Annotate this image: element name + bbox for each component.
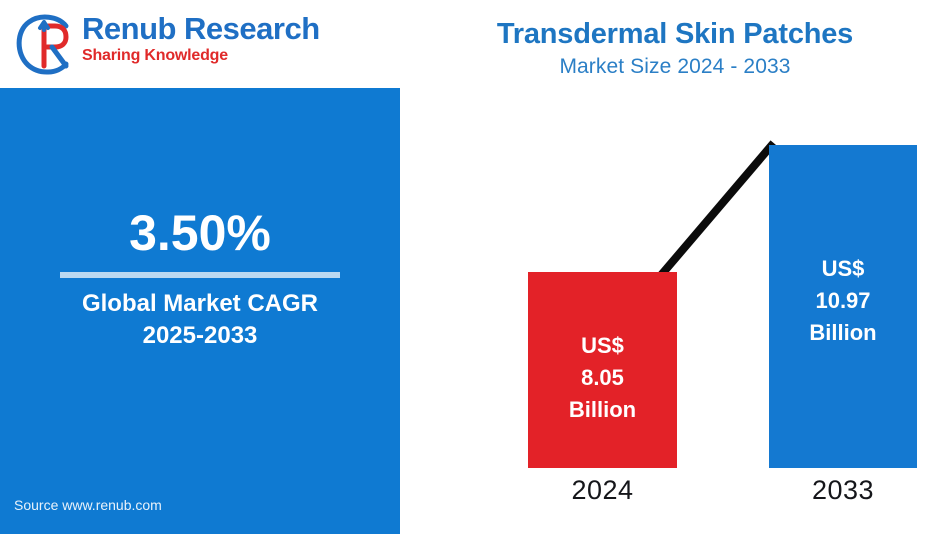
bar-2024-value-label: US$ 8.05 Billion — [528, 330, 677, 426]
page-title: Transdermal Skin Patches — [410, 16, 940, 53]
page-subtitle: Market Size 2024 - 2033 — [410, 53, 940, 81]
brand-logo-text: Renub Research Sharing Knowledge — [82, 12, 332, 65]
x-tick-2024: 2024 — [528, 473, 677, 507]
bar-2033-value-label: US$ 10.97 Billion — [769, 253, 917, 349]
circular-arrow-r-logo-icon — [14, 14, 80, 78]
brand-tagline: Sharing Knowledge — [82, 46, 332, 65]
bar-chart: US$ 8.05 Billion US$ 10.97 Billion 2024 … — [400, 88, 950, 534]
cagr-divider — [60, 272, 340, 278]
bar-2024-unit: Billion — [528, 394, 677, 426]
bar-2024: US$ 8.05 Billion — [528, 272, 677, 468]
infographic-root: Renub Research Sharing Knowledge Transde… — [0, 0, 950, 534]
cagr-label-period: 2025-2033 — [0, 320, 400, 352]
bar-2033-unit: Billion — [769, 317, 917, 349]
bar-2033-amount: 10.97 — [769, 285, 917, 317]
cagr-content: 3.50% Global Market CAGR 2025-2033 — [0, 204, 400, 352]
bar-2024-amount: 8.05 — [528, 362, 677, 394]
x-axis-labels: 2024 2033 — [400, 473, 950, 513]
header: Transdermal Skin Patches Market Size 202… — [410, 16, 940, 81]
brand-name: Renub Research — [82, 12, 332, 46]
x-tick-2033: 2033 — [769, 473, 917, 507]
source-credit: Source www.renub.com — [14, 496, 162, 514]
brand-logo[interactable]: Renub Research Sharing Knowledge — [14, 8, 334, 82]
cagr-panel: 3.50% Global Market CAGR 2025-2033 Sourc… — [0, 88, 400, 534]
cagr-value: 3.50% — [0, 204, 400, 262]
cagr-label-primary: Global Market CAGR — [0, 288, 400, 320]
bar-2033: US$ 10.97 Billion — [769, 145, 917, 468]
bar-2024-currency: US$ — [528, 330, 677, 362]
bar-2033-currency: US$ — [769, 253, 917, 285]
